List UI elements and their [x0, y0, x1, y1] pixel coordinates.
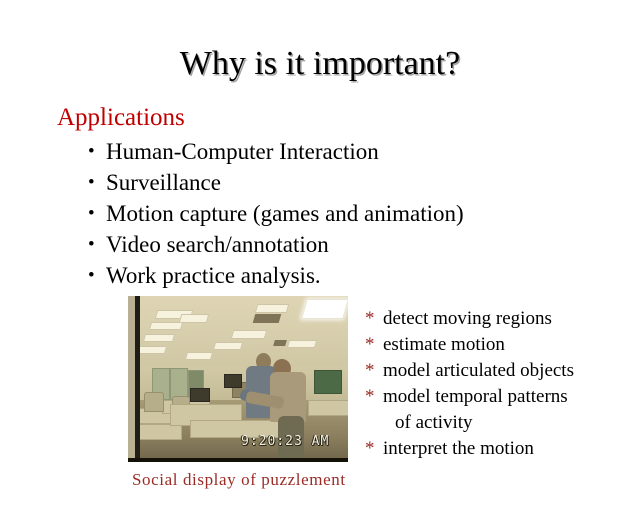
task-item: * estimate motion: [365, 332, 635, 358]
ceiling-vent: [273, 340, 287, 346]
photo-left-band: [135, 296, 140, 462]
applications-list: • Human-Computer Interaction • Surveilla…: [88, 136, 528, 291]
ceiling-vent: [253, 314, 282, 323]
task-item: * model articulated objects: [365, 358, 635, 384]
ceiling-light: [231, 330, 268, 339]
bullet-icon: •: [88, 229, 95, 260]
task-item: * detect moving regions: [365, 306, 635, 332]
list-item-label: Surveillance: [106, 170, 221, 195]
ceiling-light-bright: [301, 299, 348, 319]
applications-heading: Applications: [57, 103, 185, 132]
bullet-icon: •: [88, 260, 95, 291]
task-item-label: interpret the motion: [383, 438, 534, 459]
photo-monitor: [190, 388, 210, 402]
ceiling-light: [143, 334, 175, 342]
bullet-icon: •: [88, 198, 95, 229]
asterisk-icon: *: [365, 306, 375, 332]
photo-desk: [308, 400, 348, 416]
asterisk-icon: *: [365, 332, 375, 358]
ceiling-light: [287, 340, 317, 348]
list-item-label: Motion capture (games and animation): [106, 201, 464, 226]
photo-wall-board: [314, 370, 342, 394]
ceiling-light: [213, 342, 243, 350]
photo-left-edge: [128, 296, 135, 462]
photo-bottom-band: [128, 458, 348, 462]
task-item: * interpret the motion: [365, 436, 635, 462]
photo-caption: Social display of puzzlement: [132, 470, 346, 490]
task-item-label: detect moving regions: [383, 308, 552, 329]
ceiling-light: [255, 304, 290, 313]
photo-monitor: [224, 374, 242, 388]
figure: 9:20:23 AM: [128, 296, 348, 462]
list-item: • Motion capture (games and animation): [88, 198, 528, 229]
task-item: * model temporal patterns: [365, 384, 635, 410]
presentation-slide: Why is it important? Applications • Huma…: [0, 0, 640, 512]
task-item-label: of activity: [395, 412, 473, 433]
ceiling-light: [179, 314, 210, 323]
task-item-label: estimate motion: [383, 334, 505, 355]
list-item: • Human-Computer Interaction: [88, 136, 528, 167]
list-item: • Video search/annotation: [88, 229, 528, 260]
list-item-label: Video search/annotation: [106, 232, 329, 257]
photo-timestamp-overlay: 9:20:23 AM: [241, 434, 329, 449]
office-surveillance-photo: 9:20:23 AM: [128, 296, 348, 462]
bullet-icon: •: [88, 167, 95, 198]
asterisk-icon: *: [365, 436, 375, 462]
asterisk-icon: *: [365, 384, 375, 410]
slide-title: Why is it important?: [0, 44, 640, 84]
ceiling-light: [137, 346, 167, 354]
task-item-label: model articulated objects: [383, 360, 574, 381]
asterisk-icon: *: [365, 358, 375, 384]
photo-chair: [144, 392, 164, 412]
ceiling-light: [185, 352, 213, 360]
list-item-label: Human-Computer Interaction: [106, 139, 379, 164]
ceiling-light: [149, 322, 183, 330]
tasks-list: * detect moving regions * estimate motio…: [365, 306, 635, 462]
task-item-continuation: of activity: [365, 410, 635, 436]
bullet-icon: •: [88, 136, 95, 167]
task-item-label: model temporal patterns: [383, 386, 568, 407]
list-item: • Surveillance: [88, 167, 528, 198]
list-item-label: Work practice analysis.: [106, 263, 321, 288]
list-item: • Work practice analysis.: [88, 260, 528, 291]
